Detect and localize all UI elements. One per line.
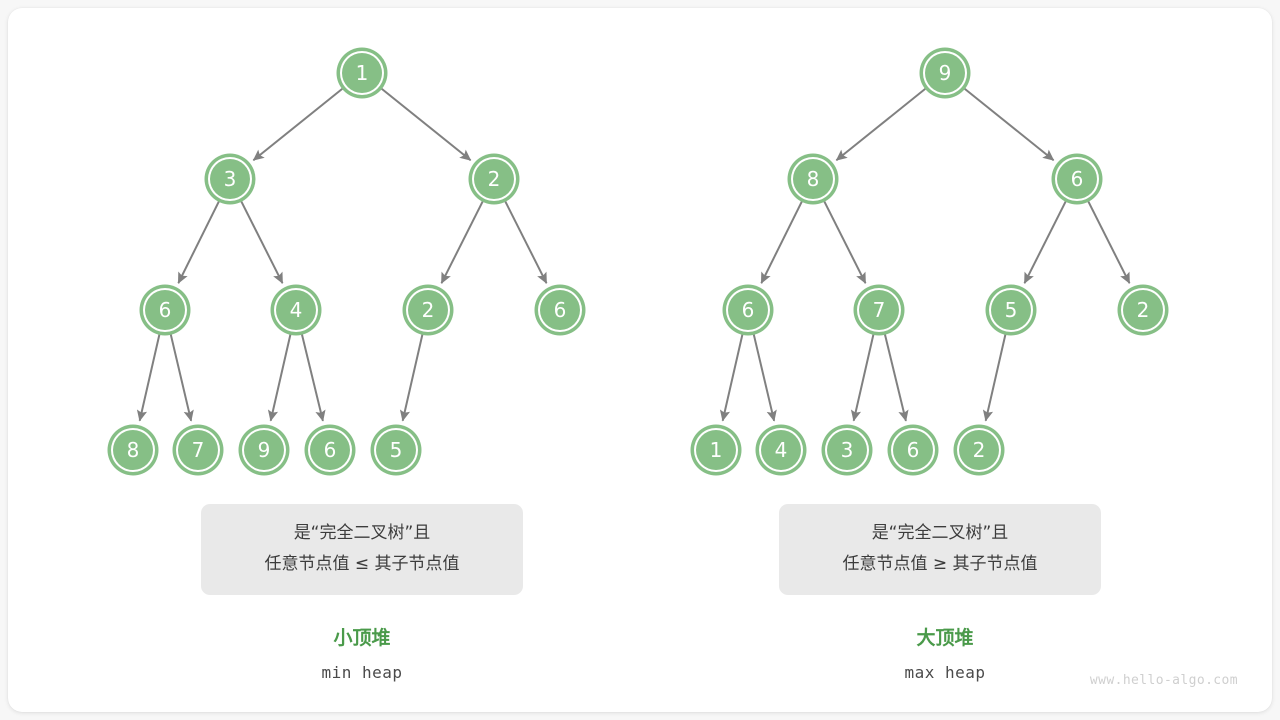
heap-title: 小顶堆: [212, 623, 512, 650]
tree-edges-layer: [8, 8, 1272, 712]
tree-edge: [271, 334, 291, 420]
diagram-card: 132642687965986675214362 是“完全二叉树”且任意节点值 …: [8, 8, 1272, 712]
tree-node: 6: [726, 288, 770, 332]
tree-node: 4: [274, 288, 318, 332]
tree-edge: [761, 201, 802, 283]
tree-edge: [505, 201, 546, 283]
tree-edge: [302, 334, 323, 421]
tree-node: 1: [340, 51, 384, 95]
heap-definition-line: 是“完全二叉树”且: [779, 518, 1101, 549]
tree-edge: [442, 201, 483, 283]
tree-node: 9: [923, 51, 967, 95]
tree-edge: [178, 201, 219, 283]
tree-node: 5: [374, 428, 418, 472]
heap-definition-box: 是“完全二叉树”且任意节点值 ≤ 其子节点值: [201, 504, 523, 595]
tree-edge: [381, 89, 470, 161]
heap-subtitle: min heap: [212, 663, 512, 682]
tree-edge: [964, 89, 1053, 161]
tree-node: 8: [111, 428, 155, 472]
heap-title: 大顶堆: [795, 623, 1095, 650]
tree-node: 3: [825, 428, 869, 472]
tree-node: 6: [308, 428, 352, 472]
heap-definition-line: 任意节点值 ≥ 其子节点值: [779, 549, 1101, 580]
tree-edge: [403, 334, 423, 420]
tree-edge: [140, 334, 160, 420]
tree-edge: [836, 89, 925, 161]
tree-edge: [885, 334, 906, 421]
tree-node: 6: [891, 428, 935, 472]
tree-edge: [241, 201, 282, 283]
tree-node: 2: [1121, 288, 1165, 332]
watermark: www.hello-algo.com: [1090, 673, 1238, 688]
tree-node: 8: [791, 157, 835, 201]
tree-node: 4: [759, 428, 803, 472]
tree-node: 9: [242, 428, 286, 472]
tree-node: 6: [143, 288, 187, 332]
tree-edge: [854, 334, 874, 420]
tree-node: 6: [538, 288, 582, 332]
tree-node: 6: [1055, 157, 1099, 201]
diagram-root: 132642687965986675214362 是“完全二叉树”且任意节点值 …: [0, 0, 1280, 720]
tree-edge: [986, 334, 1006, 420]
heap-definition-line: 是“完全二叉树”且: [201, 518, 523, 549]
tree-node: 7: [857, 288, 901, 332]
tree-node: 5: [989, 288, 1033, 332]
tree-node: 2: [957, 428, 1001, 472]
heap-definition-box: 是“完全二叉树”且任意节点值 ≥ 其子节点值: [779, 504, 1101, 595]
tree-edge: [824, 201, 865, 283]
tree-edge: [1025, 201, 1066, 283]
tree-node: 7: [176, 428, 220, 472]
tree-edge: [754, 334, 774, 420]
tree-edge: [1088, 201, 1129, 283]
tree-node: 2: [406, 288, 450, 332]
heap-subtitle: max heap: [795, 663, 1095, 682]
tree-node: 2: [472, 157, 516, 201]
tree-edge: [253, 89, 342, 161]
heap-definition-line: 任意节点值 ≤ 其子节点值: [201, 549, 523, 580]
tree-edge: [723, 334, 743, 420]
tree-node: 3: [208, 157, 252, 201]
tree-node: 1: [694, 428, 738, 472]
tree-edge: [171, 334, 191, 420]
